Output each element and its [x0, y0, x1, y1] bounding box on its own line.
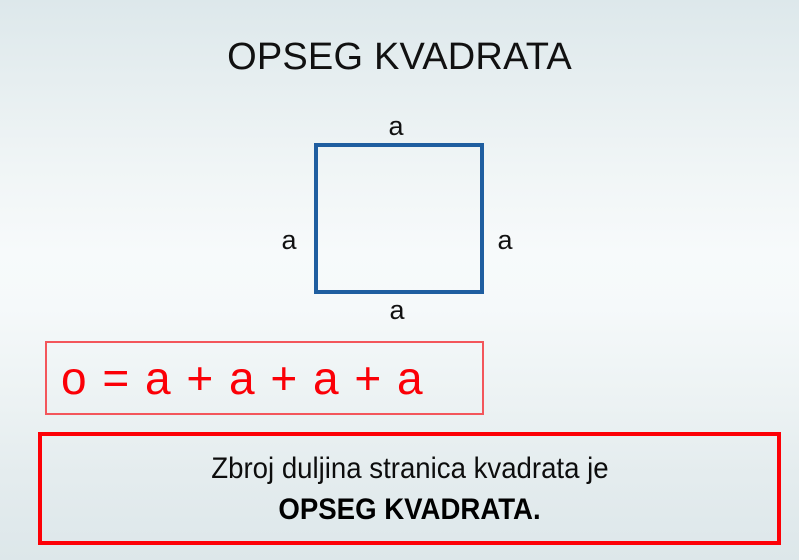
statement-box: Zbroj duljina stranica kvadrata je OPSEG…: [38, 432, 781, 545]
slide-canvas: OPSEG KVADRATA a a a a o = a + a + a + a…: [0, 0, 799, 560]
square-side-label-top: a: [372, 111, 420, 141]
square-figure: a a a a: [265, 105, 535, 330]
perimeter-formula-text: o = a + a + a + a: [47, 353, 424, 403]
formula-box: o = a + a + a + a: [45, 341, 484, 415]
square-outline-shape: [314, 143, 484, 294]
square-side-label-bottom: a: [373, 295, 421, 325]
square-side-label-right: a: [483, 225, 527, 255]
statement-line-two: OPSEG KVADRATA.: [278, 490, 540, 530]
square-side-label-left: a: [267, 225, 311, 255]
statement-line-one: Zbroj duljina stranica kvadrata je: [211, 448, 608, 490]
page-title: OPSEG KVADRATA: [0, 34, 799, 80]
